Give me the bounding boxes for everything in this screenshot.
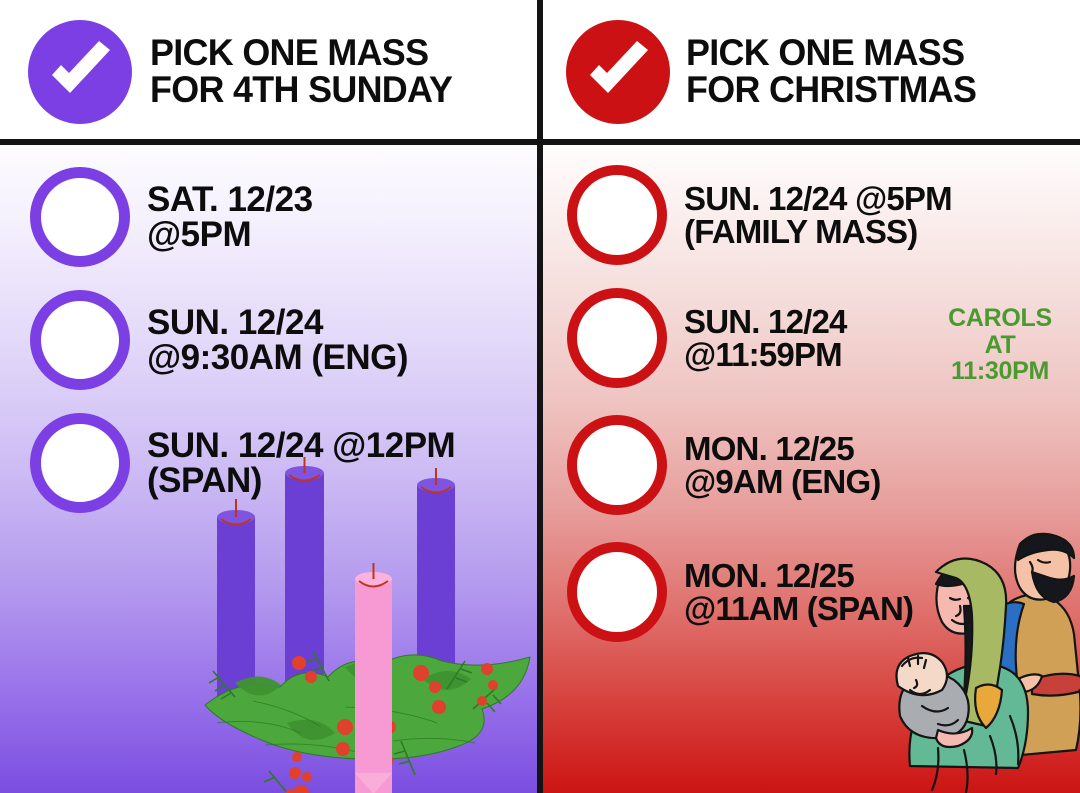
checkbox-circle-icon[interactable] [567,542,667,642]
option-row[interactable]: SUN. 12/24 @12PM (SPAN) [30,413,455,513]
checkbox-circle-icon[interactable] [30,167,130,267]
option-row[interactable]: MON. 12/25 @9AM (ENG) [567,415,881,515]
option-label: MON. 12/25 @11AM (SPAN) [684,559,913,625]
option-row[interactable]: SUN. 12/24 @11:59PM [567,288,847,388]
checkbox-circle-icon[interactable] [30,290,130,390]
check-circle-icon [566,20,670,124]
header-column-fourth-sunday: PICK ONE MASS FOR 4TH SUNDAY [0,0,540,143]
panel-fourth-sunday: SAT. 12/23 @5PM SUN. 12/24 @9:30AM (ENG)… [0,145,538,793]
carols-note: CAROLS AT 11:30PM [940,305,1060,385]
option-label: SUN. 12/24 @12PM (SPAN) [147,428,455,498]
option-row[interactable]: SUN. 12/24 @5PM (FAMILY MASS) [567,165,952,265]
header-title-fourth-sunday: PICK ONE MASS FOR 4TH SUNDAY [150,35,452,108]
option-label: SAT. 12/23 @5PM [147,182,313,252]
header-title-christmas: PICK ONE MASS FOR CHRISTMAS [686,35,976,108]
option-label: SUN. 12/24 @5PM (FAMILY MASS) [684,182,952,248]
holy-family-nativity-illustration [892,520,1080,793]
mass-schedule-poster: PICK ONE MASS FOR 4TH SUNDAY PICK ONE MA… [0,0,1080,793]
option-label: MON. 12/25 @9AM (ENG) [684,432,881,498]
panel-christmas: SUN. 12/24 @5PM (FAMILY MASS) SUN. 12/24… [542,145,1080,793]
option-label: SUN. 12/24 @11:59PM [684,305,847,371]
option-row[interactable]: SUN. 12/24 @9:30AM (ENG) [30,290,408,390]
option-row[interactable]: SAT. 12/23 @5PM [30,167,313,267]
checkbox-circle-icon[interactable] [567,288,667,388]
check-circle-icon [28,20,132,124]
checkbox-circle-icon[interactable] [30,413,130,513]
header-column-christmas: PICK ONE MASS FOR CHRISTMAS [540,0,1080,143]
divider-vertical-bottom [537,143,543,793]
checkbox-circle-icon[interactable] [567,415,667,515]
divider-vertical-top [537,0,543,143]
option-label: SUN. 12/24 @9:30AM (ENG) [147,305,408,375]
option-row[interactable]: MON. 12/25 @11AM (SPAN) [567,542,913,642]
checkbox-circle-icon[interactable] [567,165,667,265]
